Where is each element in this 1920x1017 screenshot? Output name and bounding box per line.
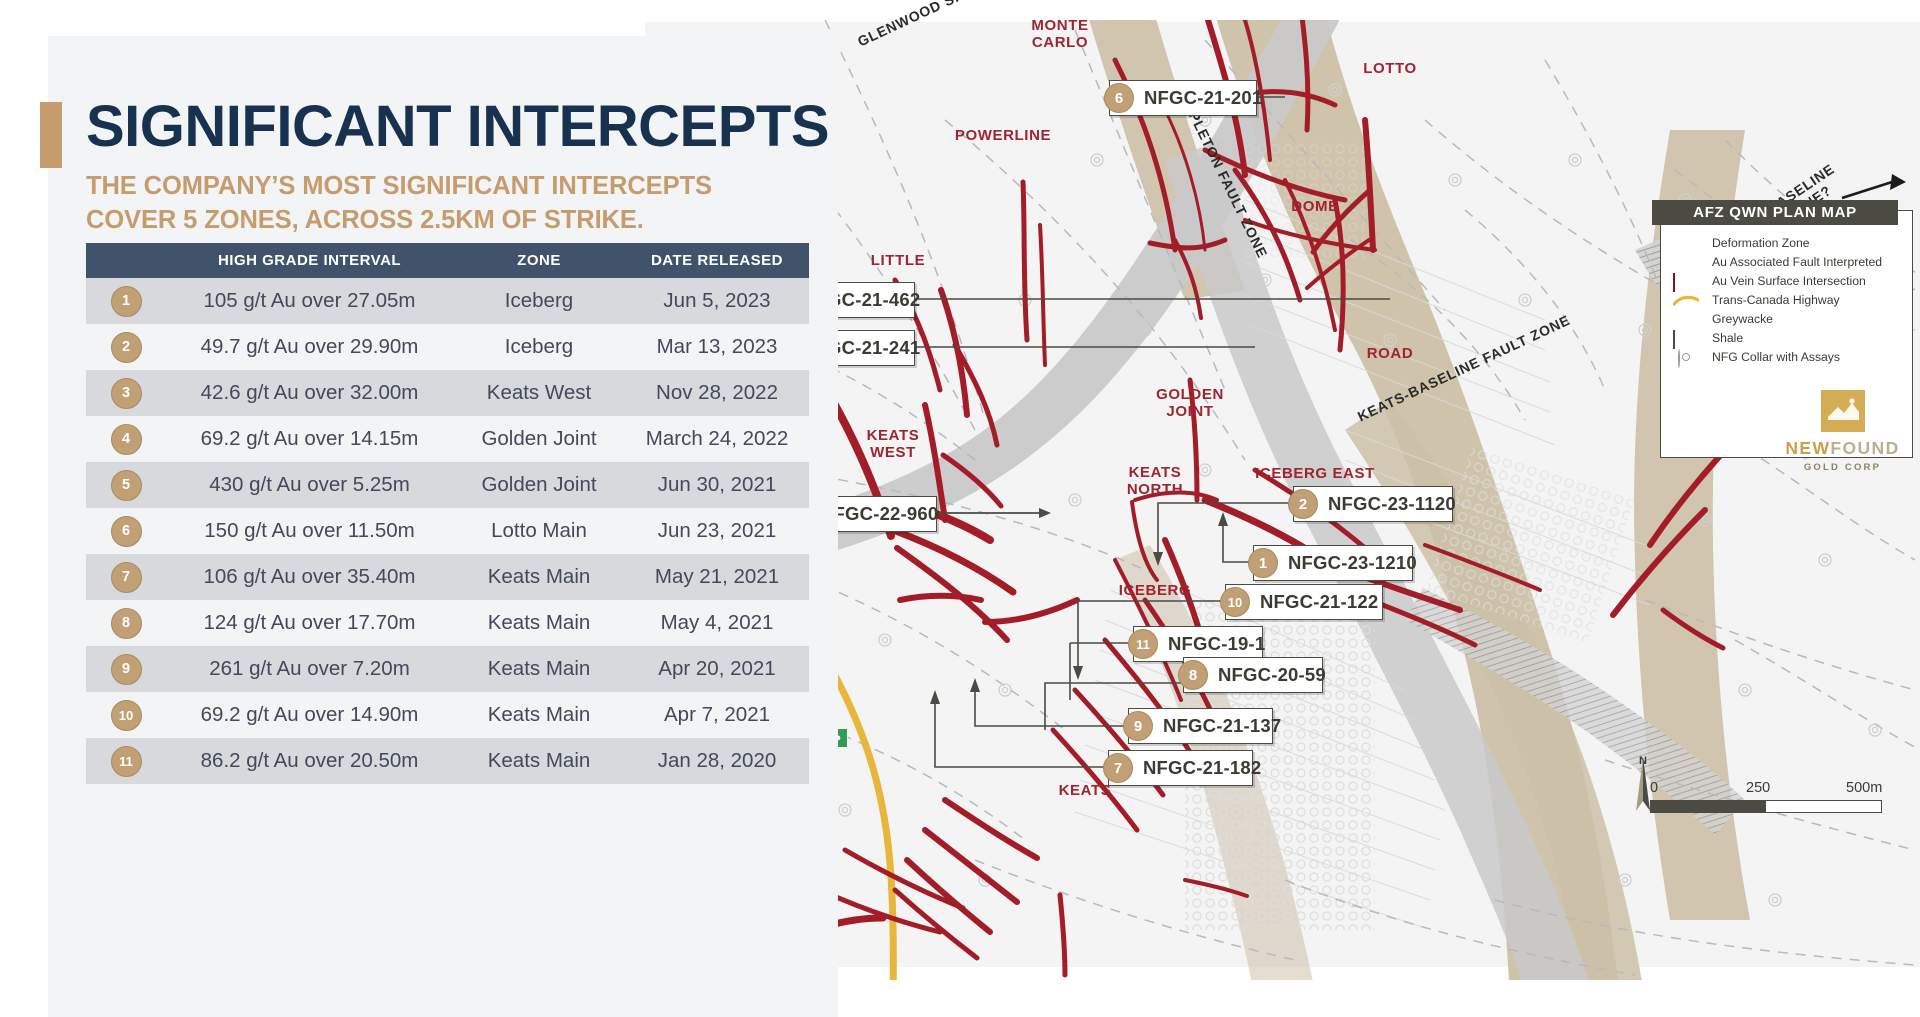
row-interval-cell: 42.6 g/t Au over 32.00m bbox=[166, 370, 453, 416]
newfound-gold-logo: NEWFOUND GOLD CORP bbox=[1785, 390, 1900, 473]
callout-badge-9: 9 bbox=[1123, 711, 1153, 741]
table-body: 1105 g/t Au over 27.05mIcebergJun 5, 202… bbox=[86, 278, 809, 784]
slide-root: MONTE CARLO LOTTO POWERLINE DOME ICEBERG… bbox=[0, 0, 1920, 1017]
callout-label: NFGC-23-1210 bbox=[1288, 552, 1417, 574]
legend-item-deformation-zone: Deformation Zone bbox=[1673, 233, 1898, 252]
row-date-cell: March 24, 2022 bbox=[625, 416, 809, 462]
row-zone-cell: Golden Joint bbox=[453, 416, 625, 462]
row-interval-cell: 430 g/t Au over 5.25m bbox=[166, 462, 453, 508]
row-number-badge: 5 bbox=[111, 470, 142, 501]
title-accent-bar bbox=[40, 102, 62, 168]
row-number-badge: 10 bbox=[111, 700, 142, 731]
table-row: 469.2 g/t Au over 14.15mGolden JointMarc… bbox=[86, 416, 809, 462]
row-zone-cell: Keats Main bbox=[453, 600, 625, 646]
row-zone-cell: Keats Main bbox=[453, 646, 625, 692]
row-number-badge: 3 bbox=[111, 378, 142, 409]
row-index-cell: 4 bbox=[86, 416, 166, 462]
col-header-index bbox=[86, 243, 166, 278]
legend-item-shale: Shale bbox=[1673, 328, 1898, 347]
table-row: 1105 g/t Au over 27.05mIcebergJun 5, 202… bbox=[86, 278, 809, 324]
row-interval-cell: 86.2 g/t Au over 20.50m bbox=[166, 738, 453, 784]
row-date-cell: Mar 13, 2023 bbox=[625, 324, 809, 370]
row-interval-cell: 69.2 g/t Au over 14.90m bbox=[166, 692, 453, 738]
au-vein-swatch-icon bbox=[1673, 274, 1703, 288]
table-row: 249.7 g/t Au over 29.90mIcebergMar 13, 2… bbox=[86, 324, 809, 370]
row-number-badge: 1 bbox=[111, 286, 142, 317]
callout-label: NFGC-23-1120 bbox=[1328, 493, 1456, 515]
legend-item-au-fault: Au Associated Fault Interpreted bbox=[1673, 252, 1898, 271]
row-zone-cell: Iceberg bbox=[453, 278, 625, 324]
table-head: HIGH GRADE INTERVAL ZONE DATE RELEASED bbox=[86, 243, 809, 278]
scale-bar-graphic bbox=[1650, 800, 1882, 813]
row-date-cell: Jan 28, 2020 bbox=[625, 738, 809, 784]
table-row: 5430 g/t Au over 5.25mGolden JointJun 30… bbox=[86, 462, 809, 508]
highway-swatch-icon bbox=[1673, 293, 1703, 307]
map-scale-bar: 0 250 500m bbox=[1650, 780, 1900, 813]
table-row: 342.6 g/t Au over 32.00mKeats WestNov 28… bbox=[86, 370, 809, 416]
col-header-date-released: DATE RELEASED bbox=[625, 243, 809, 278]
deformation-zone-swatch-icon bbox=[1673, 236, 1703, 250]
row-date-cell: Apr 7, 2021 bbox=[625, 692, 809, 738]
logo-wordmark: NEWFOUND bbox=[1785, 438, 1900, 459]
row-interval-cell: 49.7 g/t Au over 29.90m bbox=[166, 324, 453, 370]
row-interval-cell: 69.2 g/t Au over 14.15m bbox=[166, 416, 453, 462]
callout-badge-6: 6 bbox=[1104, 83, 1134, 113]
row-zone-cell: Golden Joint bbox=[453, 462, 625, 508]
table-row: 6150 g/t Au over 11.50mLotto MainJun 23,… bbox=[86, 508, 809, 554]
table-row: 9261 g/t Au over 7.20mKeats MainApr 20, … bbox=[86, 646, 809, 692]
row-zone-cell: Lotto Main bbox=[453, 508, 625, 554]
table-row: 7106 g/t Au over 35.40mKeats MainMay 21,… bbox=[86, 554, 809, 600]
col-header-zone: ZONE bbox=[453, 243, 625, 278]
row-zone-cell: Keats Main bbox=[453, 738, 625, 784]
row-index-cell: 7 bbox=[86, 554, 166, 600]
row-number-badge: 8 bbox=[111, 608, 142, 639]
row-interval-cell: 106 g/t Au over 35.40m bbox=[166, 554, 453, 600]
intercepts-table: HIGH GRADE INTERVAL ZONE DATE RELEASED 1… bbox=[86, 243, 809, 784]
row-number-badge: 9 bbox=[111, 654, 142, 685]
row-zone-cell: Keats Main bbox=[453, 692, 625, 738]
callout-badge-2: 2 bbox=[1288, 489, 1318, 519]
left-content-panel: SIGNIFICANT INTERCEPTS THE COMPANY’S MOS… bbox=[48, 36, 838, 1017]
row-interval-cell: 261 g/t Au over 7.20m bbox=[166, 646, 453, 692]
logo-mark-icon bbox=[1821, 390, 1865, 432]
row-zone-cell: Keats West bbox=[453, 370, 625, 416]
table-row: 1069.2 g/t Au over 14.90mKeats MainApr 7… bbox=[86, 692, 809, 738]
row-index-cell: 11 bbox=[86, 738, 166, 784]
row-number-badge: 4 bbox=[111, 424, 142, 455]
row-number-badge: 2 bbox=[111, 332, 142, 363]
col-header-high-grade-interval: HIGH GRADE INTERVAL bbox=[166, 243, 453, 278]
row-index-cell: 10 bbox=[86, 692, 166, 738]
row-index-cell: 5 bbox=[86, 462, 166, 508]
row-index-cell: 8 bbox=[86, 600, 166, 646]
row-interval-cell: 105 g/t Au over 27.05m bbox=[166, 278, 453, 324]
north-arrow: N bbox=[1630, 755, 1656, 767]
callout-badge-1: 1 bbox=[1248, 548, 1278, 578]
table-row: 1186.2 g/t Au over 20.50mKeats MainJan 2… bbox=[86, 738, 809, 784]
callout-badge-11: 11 bbox=[1128, 629, 1158, 659]
row-index-cell: 3 bbox=[86, 370, 166, 416]
row-zone-cell: Iceberg bbox=[453, 324, 625, 370]
row-date-cell: Jun 30, 2021 bbox=[625, 462, 809, 508]
shale-swatch-icon bbox=[1673, 331, 1703, 345]
map-legend-items: Deformation Zone Au Associated Fault Int… bbox=[1673, 233, 1898, 366]
legend-item-nfg-collar: NFG Collar with Assays bbox=[1673, 347, 1898, 366]
row-index-cell: 6 bbox=[86, 508, 166, 554]
legend-item-au-vein: Au Vein Surface Intersection bbox=[1673, 271, 1898, 290]
page-subtitle: THE COMPANY’S MOST SIGNIFICANT INTERCEPT… bbox=[86, 170, 786, 237]
row-number-badge: 6 bbox=[111, 516, 142, 547]
row-interval-cell: 124 g/t Au over 17.70m bbox=[166, 600, 453, 646]
row-index-cell: 9 bbox=[86, 646, 166, 692]
row-number-badge: 7 bbox=[111, 562, 142, 593]
greywacke-swatch-icon bbox=[1673, 312, 1703, 326]
row-date-cell: Jun 5, 2023 bbox=[625, 278, 809, 324]
row-date-cell: May 4, 2021 bbox=[625, 600, 809, 646]
table-header-row: HIGH GRADE INTERVAL ZONE DATE RELEASED bbox=[86, 243, 809, 278]
callout-label: NFGC-19-1 bbox=[1168, 633, 1265, 655]
callout-badge-7: 7 bbox=[1103, 753, 1133, 783]
row-interval-cell: 150 g/t Au over 11.50m bbox=[166, 508, 453, 554]
callout-badge-10: 10 bbox=[1220, 587, 1250, 617]
callout-label: NFGC-21-182 bbox=[1143, 757, 1261, 779]
table-row: 8124 g/t Au over 17.70mKeats MainMay 4, … bbox=[86, 600, 809, 646]
callout-badge-8: 8 bbox=[1178, 660, 1208, 690]
logo-tagline: GOLD CORP bbox=[1785, 462, 1900, 473]
row-number-badge: 11 bbox=[111, 746, 142, 777]
scale-labels: 0 250 500m bbox=[1650, 780, 1900, 800]
map-legend-title: AFZ QWN PLAN MAP bbox=[1652, 200, 1898, 225]
legend-item-highway: Trans-Canada Highway bbox=[1673, 290, 1898, 309]
row-index-cell: 2 bbox=[86, 324, 166, 370]
legend-item-greywacke: Greywacke bbox=[1673, 309, 1898, 328]
row-date-cell: May 21, 2021 bbox=[625, 554, 809, 600]
callout-label: NFGC-20-59 bbox=[1218, 664, 1326, 686]
row-date-cell: Jun 23, 2021 bbox=[625, 508, 809, 554]
dashed-fault-swatch-icon bbox=[1673, 255, 1703, 269]
callout-label: NFGC-21-137 bbox=[1163, 715, 1281, 737]
row-zone-cell: Keats Main bbox=[453, 554, 625, 600]
row-index-cell: 1 bbox=[86, 278, 166, 324]
page-title: SIGNIFICANT INTERCEPTS bbox=[86, 98, 829, 156]
callout-label: NFGC-21-122 bbox=[1260, 591, 1378, 613]
intercepts-table-wrap: HIGH GRADE INTERVAL ZONE DATE RELEASED 1… bbox=[86, 243, 801, 784]
nfg-collar-swatch-icon bbox=[1673, 350, 1703, 364]
row-date-cell: Nov 28, 2022 bbox=[625, 370, 809, 416]
row-date-cell: Apr 20, 2021 bbox=[625, 646, 809, 692]
callout-label: NFGC-21-201 bbox=[1144, 87, 1262, 109]
